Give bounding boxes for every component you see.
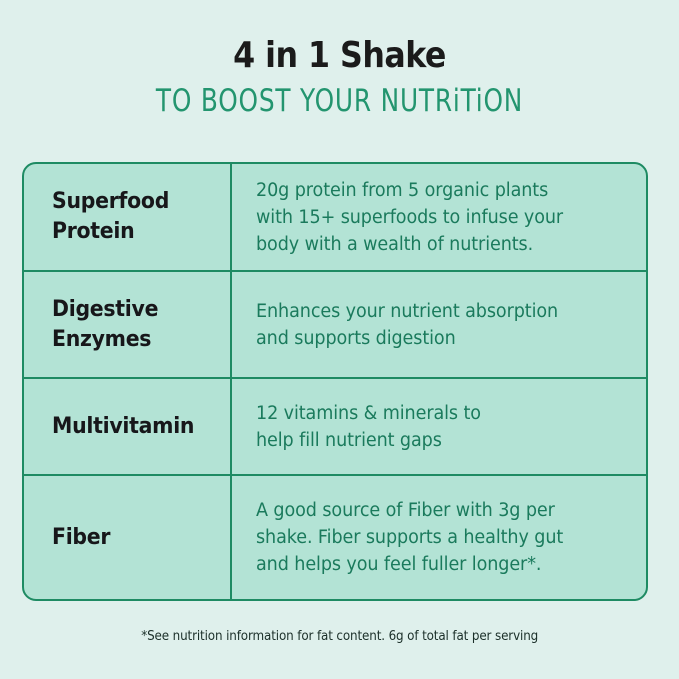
table-row: Digestive Enzymes Enhances your nutrient…	[24, 270, 646, 377]
row-description-line: Enhances your nutrient absorption	[256, 298, 558, 325]
table-cell-label: Fiber	[24, 476, 232, 599]
infographic-page: 4 in 1 Shake TO BOOST YOUR NUTRiTiON Sup…	[0, 0, 679, 679]
row-description-line: body with a wealth of nutrients.	[256, 231, 563, 258]
row-description-line: A good source of Fiber with 3g per	[256, 497, 563, 524]
row-description-line: 20g protein from 5 organic plants	[256, 177, 563, 204]
row-description: A good source of Fiber with 3g per shake…	[256, 497, 563, 578]
row-description-line: help fill nutrient gaps	[256, 427, 481, 454]
page-title: 4 in 1 Shake	[41, 36, 639, 76]
footnote: *See nutrition information for fat conte…	[0, 628, 679, 646]
row-label-line: Fiber	[52, 523, 110, 553]
table-cell-description: 12 vitamins & minerals to help fill nutr…	[232, 379, 646, 474]
row-label-line: Protein	[52, 217, 169, 247]
row-label: Fiber	[52, 523, 110, 553]
row-label: Superfood Protein	[52, 187, 169, 247]
table-row: Fiber A good source of Fiber with 3g per…	[24, 474, 646, 599]
row-label-line: Multivitamin	[52, 412, 194, 442]
row-description: 20g protein from 5 organic plants with 1…	[256, 177, 563, 258]
row-label-line: Superfood	[52, 187, 169, 217]
row-description: 12 vitamins & minerals to help fill nutr…	[256, 400, 481, 454]
table-row: Superfood Protein 20g protein from 5 org…	[24, 164, 646, 270]
table-cell-description: Enhances your nutrient absorption and su…	[232, 272, 646, 377]
row-label: Multivitamin	[52, 412, 194, 442]
benefits-table: Superfood Protein 20g protein from 5 org…	[22, 162, 648, 601]
table-cell-label: Digestive Enzymes	[24, 272, 232, 377]
row-description-line: shake. Fiber supports a healthy gut	[256, 524, 563, 551]
heading-block: 4 in 1 Shake TO BOOST YOUR NUTRiTiON	[0, 36, 679, 120]
table-cell-description: 20g protein from 5 organic plants with 1…	[232, 164, 646, 270]
row-description-line: with 15+ superfoods to infuse your	[256, 204, 563, 231]
table-cell-label: Multivitamin	[24, 379, 232, 474]
table-row: Multivitamin 12 vitamins & minerals to h…	[24, 377, 646, 474]
row-label: Digestive Enzymes	[52, 295, 158, 355]
row-description-line: and helps you feel fuller longer*.	[256, 551, 563, 578]
row-description-line: and supports digestion	[256, 325, 558, 352]
table-cell-description: A good source of Fiber with 3g per shake…	[232, 476, 646, 599]
page-subtitle: TO BOOST YOUR NUTRiTiON	[68, 82, 611, 120]
table-cell-label: Superfood Protein	[24, 164, 232, 270]
footnote-text: *See nutrition information for fat conte…	[141, 628, 538, 646]
row-label-line: Enzymes	[52, 325, 158, 355]
row-label-line: Digestive	[52, 295, 158, 325]
row-description: Enhances your nutrient absorption and su…	[256, 298, 558, 352]
row-description-line: 12 vitamins & minerals to	[256, 400, 481, 427]
